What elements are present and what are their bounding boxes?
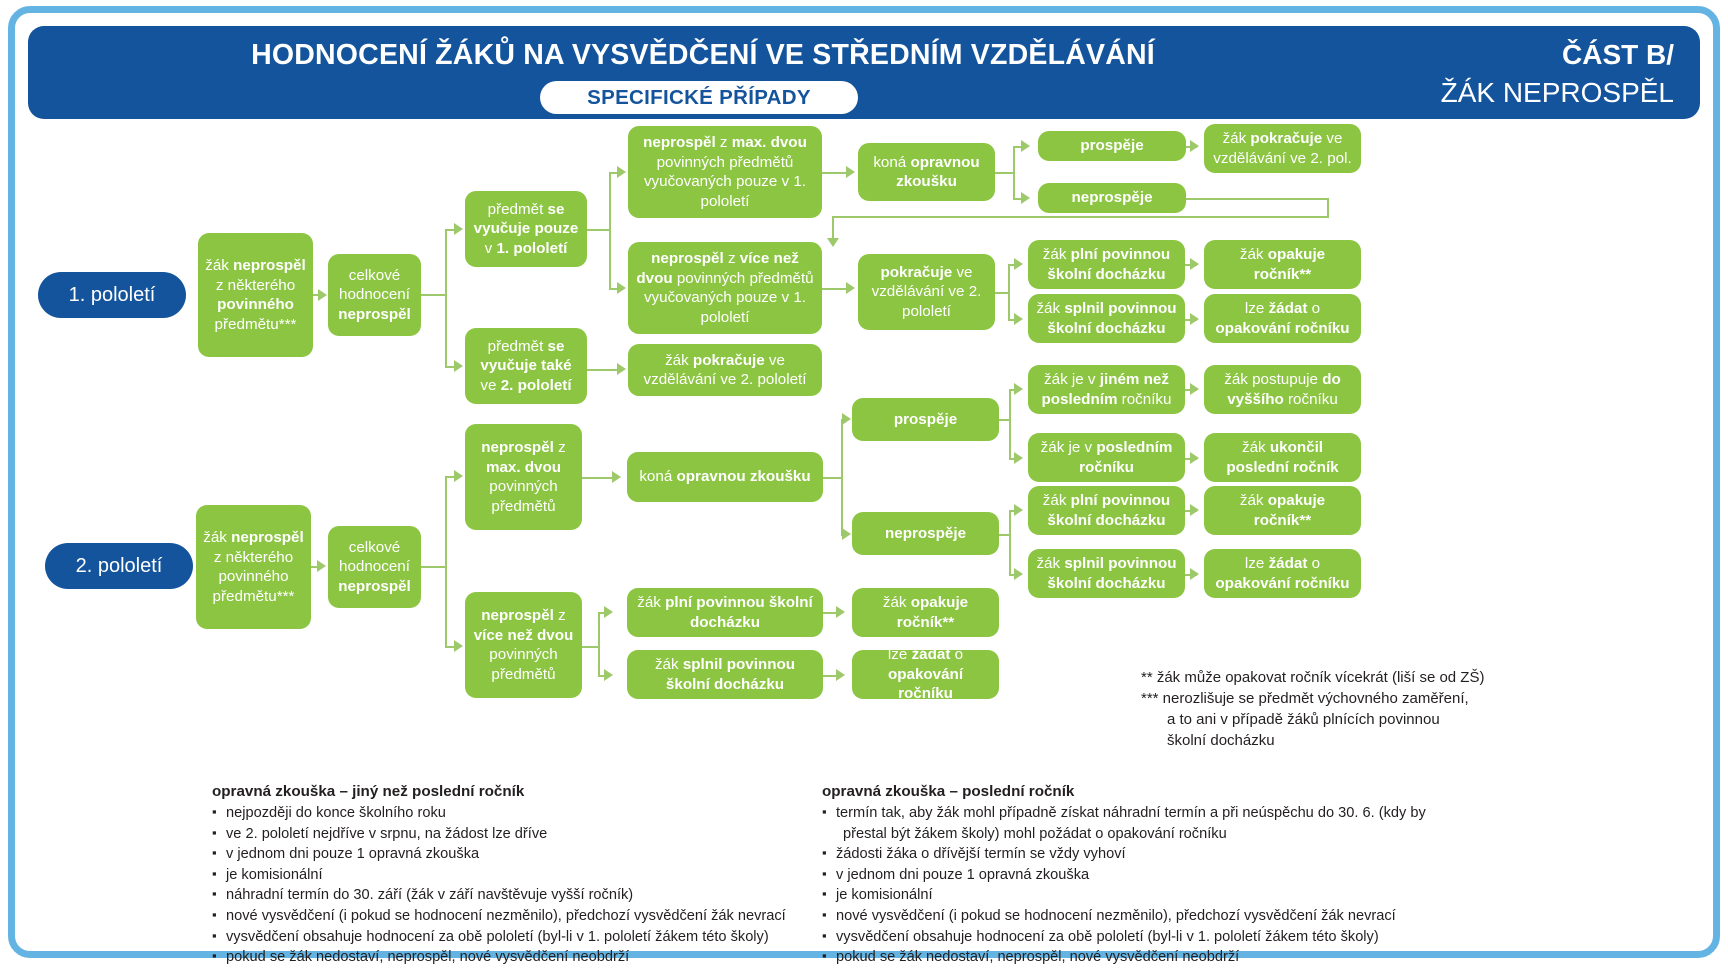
arrow-s2-failmax-retake bbox=[612, 471, 621, 483]
line-s2-split-v bbox=[445, 476, 447, 646]
arrow-s1-pass-cont bbox=[1190, 140, 1199, 152]
arrow-s2-attendB1-res bbox=[836, 606, 845, 618]
header-bar: HODNOCENÍ ŽÁKŮ NA VYSVĚDČENÍ VE STŘEDNÍM… bbox=[28, 26, 1700, 119]
arrow-s1-subject2-out bbox=[617, 363, 626, 375]
arrow-s1-failmore-cont bbox=[846, 282, 855, 294]
footnote-item: vysvědčení obsahuje hodnocení za obě pol… bbox=[212, 927, 792, 948]
footnote-item: ve 2. pololetí nejdříve v srpnu, na žádo… bbox=[212, 824, 792, 845]
arrow-s1-to-subject-first bbox=[454, 223, 463, 235]
node-s1-fail-max-two: neprospěl z max. dvou povinných předmětů… bbox=[628, 126, 822, 218]
arrow-s1-to-fail bbox=[1021, 192, 1030, 204]
header-subtitle-badge: SPECIFICKÉ PŘÍPADY bbox=[540, 81, 858, 114]
footnote-item: nejpozději do konce školního roku bbox=[212, 803, 792, 824]
arrow-s2-start-overall bbox=[317, 560, 326, 572]
line-s1-cont-split-v bbox=[1008, 264, 1010, 319]
star-note-line3: a to ani v případě žáků plnících povinno… bbox=[1141, 709, 1621, 730]
semester-pill-second: 2. pololetí bbox=[45, 543, 193, 589]
arrow-s2-to-pass bbox=[842, 413, 851, 425]
arrow-s1-failmax-retake bbox=[846, 166, 855, 178]
footnote-right-list: termín tak, aby žák mohl případně získat… bbox=[822, 803, 1442, 968]
arrow-s2-attendB2-res bbox=[836, 669, 845, 681]
node-s2-overall: celkové hodnocení neprospěl bbox=[328, 526, 421, 608]
footnote-item: nové vysvědčení (i pokud se hodnocení ne… bbox=[822, 906, 1442, 927]
line-s2-failmoreB-v bbox=[598, 612, 600, 675]
node-s1-fail-more-than-two: neprospěl z více než dvou povinných před… bbox=[628, 242, 822, 334]
star-note-line2: *** nerozlišuje se předmět výchovného za… bbox=[1141, 688, 1621, 709]
line-s2-retake-out bbox=[823, 477, 841, 479]
arrow-s2-to-attendB1 bbox=[604, 606, 613, 618]
node-s1-can-request: lze žádat o opakování ročníku bbox=[1204, 294, 1361, 343]
star-note-line1: ** žák může opakovat ročník vícekrát (li… bbox=[1141, 667, 1621, 688]
semester-pill-first: 1. pololetí bbox=[38, 272, 186, 318]
arrow-s2-to-attendA2 bbox=[1014, 568, 1023, 580]
footnote-right-title: opravná zkouška – poslední ročník bbox=[822, 783, 1442, 800]
node-s2-repeats-year-b: žák opakuje ročník** bbox=[852, 588, 999, 637]
arrow-s1-to-subject-second bbox=[454, 360, 463, 372]
line-s1-fail-elbow-bottom bbox=[832, 216, 1329, 218]
arrow-s2-attendA1-res bbox=[1190, 504, 1199, 516]
arrow-s2-to-failmax bbox=[454, 470, 463, 482]
node-s2-last-year: žák je v posledním ročníku bbox=[1028, 433, 1185, 482]
node-s1-pass: prospěje bbox=[1038, 131, 1186, 161]
node-s2-repeats-year-a: žák opakuje ročník** bbox=[1204, 486, 1361, 535]
node-s2-can-request-b: lze žádat o opakování ročníku bbox=[852, 650, 999, 699]
footnote-item: nové vysvědčení (i pokud se hodnocení ne… bbox=[212, 906, 792, 927]
header-part-line2: ŽÁK NEPROSPĚL bbox=[1441, 74, 1674, 112]
node-s2-fulfills-attendance-b: žák plní povinnou školní docházku bbox=[627, 588, 823, 637]
arrow-s1-fail-to-continue bbox=[827, 238, 839, 247]
footnote-item-continuation: přestal být žákem školy) mohl požádat o … bbox=[836, 824, 1442, 845]
line-s1-fail-elbow-top bbox=[1186, 198, 1329, 200]
node-s2-takes-retake: koná opravnou zkoušku bbox=[627, 452, 823, 502]
line-s1-overall-out bbox=[421, 294, 445, 296]
arrow-s2-to-notlast bbox=[1014, 383, 1023, 395]
arrow-s2-to-fail bbox=[842, 528, 851, 540]
node-s2-start: žák neprospěl z některého povinného před… bbox=[196, 505, 311, 629]
arrow-s2-to-failmore bbox=[454, 640, 463, 652]
node-s2-advances: žák postupuje do vyššího ročníku bbox=[1204, 365, 1361, 414]
footnote-item: je komisionální bbox=[822, 885, 1442, 906]
node-s1-continues-edu-2: pokračuje ve vzdělávání ve 2. pololetí bbox=[858, 254, 995, 330]
line-s1-retake-out bbox=[995, 172, 1013, 174]
arrow-s1-attend1-res bbox=[1190, 258, 1199, 270]
arrow-s1-to-failmore bbox=[617, 282, 626, 294]
semester-pill-second-label: 2. pololetí bbox=[76, 555, 163, 578]
arrow-s1-to-failmax bbox=[617, 166, 626, 178]
line-s2-failmore-out bbox=[582, 646, 598, 648]
footnote-block-left: opravná zkouška – jiný než poslední ročn… bbox=[212, 783, 792, 968]
arrow-s1-to-pass bbox=[1021, 140, 1030, 152]
line-s2-overall-out bbox=[421, 566, 445, 568]
node-s1-subject-only-first: předmět se vyučuje pouze v 1. pololetí bbox=[465, 191, 587, 267]
arrow-s1-attend2-res bbox=[1190, 313, 1199, 325]
page-title: HODNOCENÍ ŽÁKŮ NA VYSVĚDČENÍ VE STŘEDNÍM… bbox=[168, 39, 1238, 71]
line-s2-retake-split-v bbox=[841, 419, 843, 534]
arrow-s2-notlast-adv bbox=[1190, 383, 1199, 395]
node-s1-continues-edu: žák pokračuje ve vzdělávání ve 2. polole… bbox=[628, 344, 822, 396]
arrow-s2-last-fin bbox=[1190, 452, 1199, 464]
star-notes: ** žák může opakovat ročník vícekrát (li… bbox=[1141, 667, 1621, 751]
footnote-left-list: nejpozději do konce školního rokuve 2. p… bbox=[212, 803, 792, 968]
node-s2-pass: prospěje bbox=[852, 398, 999, 441]
arrow-s2-attendA2-res bbox=[1190, 568, 1199, 580]
node-s1-completed-attendance: žák splnil povinnou školní docházku bbox=[1028, 294, 1185, 343]
arrow-s2-to-attendA1 bbox=[1014, 504, 1023, 516]
line-s1-split-v bbox=[445, 229, 447, 366]
arrow-s2-to-last bbox=[1014, 452, 1023, 464]
node-s2-fail-max-two: neprospěl z max. dvou povinných předmětů bbox=[465, 424, 582, 530]
footnote-item: náhradní termín do 30. září (žák v září … bbox=[212, 885, 792, 906]
node-s2-can-request-a: lze žádat o opakování ročníku bbox=[1204, 549, 1361, 598]
footnote-item: vysvědčení obsahuje hodnocení za obě pol… bbox=[822, 927, 1442, 948]
line-s1-cont-out bbox=[995, 292, 1008, 294]
star-note-line4: školní docházku bbox=[1141, 730, 1621, 751]
node-s1-subject-also-second: předmět se vyučuje také ve 2. pololetí bbox=[465, 328, 587, 404]
arrow-s1-to-attend2 bbox=[1014, 313, 1023, 325]
node-s1-start: žák neprospěl z některého povinného před… bbox=[198, 233, 313, 357]
node-s1-takes-retake: koná opravnou zkoušku bbox=[858, 143, 995, 201]
line-s1-fail-elbow-v bbox=[1327, 198, 1329, 218]
line-s1-retake-split-v bbox=[1013, 146, 1015, 198]
diagram-page: HODNOCENÍ ŽÁKŮ NA VYSVĚDČENÍ VE STŘEDNÍM… bbox=[0, 0, 1728, 965]
footnote-left-title: opravná zkouška – jiný než poslední ročn… bbox=[212, 783, 792, 800]
footnote-item: v jednom dni pouze 1 opravná zkouška bbox=[822, 865, 1442, 886]
node-s2-not-last-year: žák je v jiném než posledním ročníku bbox=[1028, 365, 1185, 414]
node-s1-fulfills-attendance: žák plní povinnou školní docházku bbox=[1028, 240, 1185, 289]
footnote-block-right: opravná zkouška – poslední ročník termín… bbox=[822, 783, 1442, 968]
footnote-item: termín tak, aby žák mohl případně získat… bbox=[822, 803, 1442, 844]
line-s2-pass-split-v bbox=[1009, 389, 1011, 458]
footnote-item: v jednom dni pouze 1 opravná zkouška bbox=[212, 844, 792, 865]
node-s2-completed-attendance-a: žák splnil povinnou školní docházku bbox=[1028, 549, 1185, 598]
node-s2-fulfills-attendance-a: žák plní povinnou školní docházku bbox=[1028, 486, 1185, 535]
line-s1-subject-split-v bbox=[609, 172, 611, 288]
node-s1-repeats-year: žák opakuje ročník** bbox=[1204, 240, 1361, 289]
arrow-s1-start-overall bbox=[318, 289, 327, 301]
line-s2-fail-split-v bbox=[1009, 510, 1011, 574]
line-s2-pass-out bbox=[999, 419, 1009, 421]
node-s1-fail: neprospěje bbox=[1038, 183, 1186, 213]
node-s2-fail-more-than-two: neprospěl z více než dvou povinných před… bbox=[465, 592, 582, 698]
line-s2-failmax-retake bbox=[582, 477, 616, 479]
header-part-label: ČÁST B/ ŽÁK NEPROSPĚL bbox=[1441, 36, 1674, 112]
node-s1-continues-2pol: žák pokračuje ve vzdělávání ve 2. pol. bbox=[1204, 124, 1361, 173]
header-part-line1: ČÁST B/ bbox=[1441, 36, 1674, 74]
semester-pill-first-label: 1. pololetí bbox=[69, 284, 156, 307]
node-s1-overall: celkové hodnocení neprospěl bbox=[328, 254, 421, 336]
line-s1-subject-out bbox=[587, 229, 609, 231]
arrow-s1-to-attend1 bbox=[1014, 258, 1023, 270]
node-s2-completed-attendance-b: žák splnil povinnou školní docházku bbox=[627, 650, 823, 699]
node-s2-finished-last: žák ukončil poslední ročník bbox=[1204, 433, 1361, 482]
footnote-item: je komisionální bbox=[212, 865, 792, 886]
node-s2-fail: neprospěje bbox=[852, 512, 999, 555]
line-s1-subject2-out bbox=[587, 369, 621, 371]
arrow-s2-to-attendB2 bbox=[604, 669, 613, 681]
footnote-item: žádosti žáka o dřívější termín se vždy v… bbox=[822, 844, 1442, 865]
line-s2-fail-out bbox=[999, 534, 1009, 536]
